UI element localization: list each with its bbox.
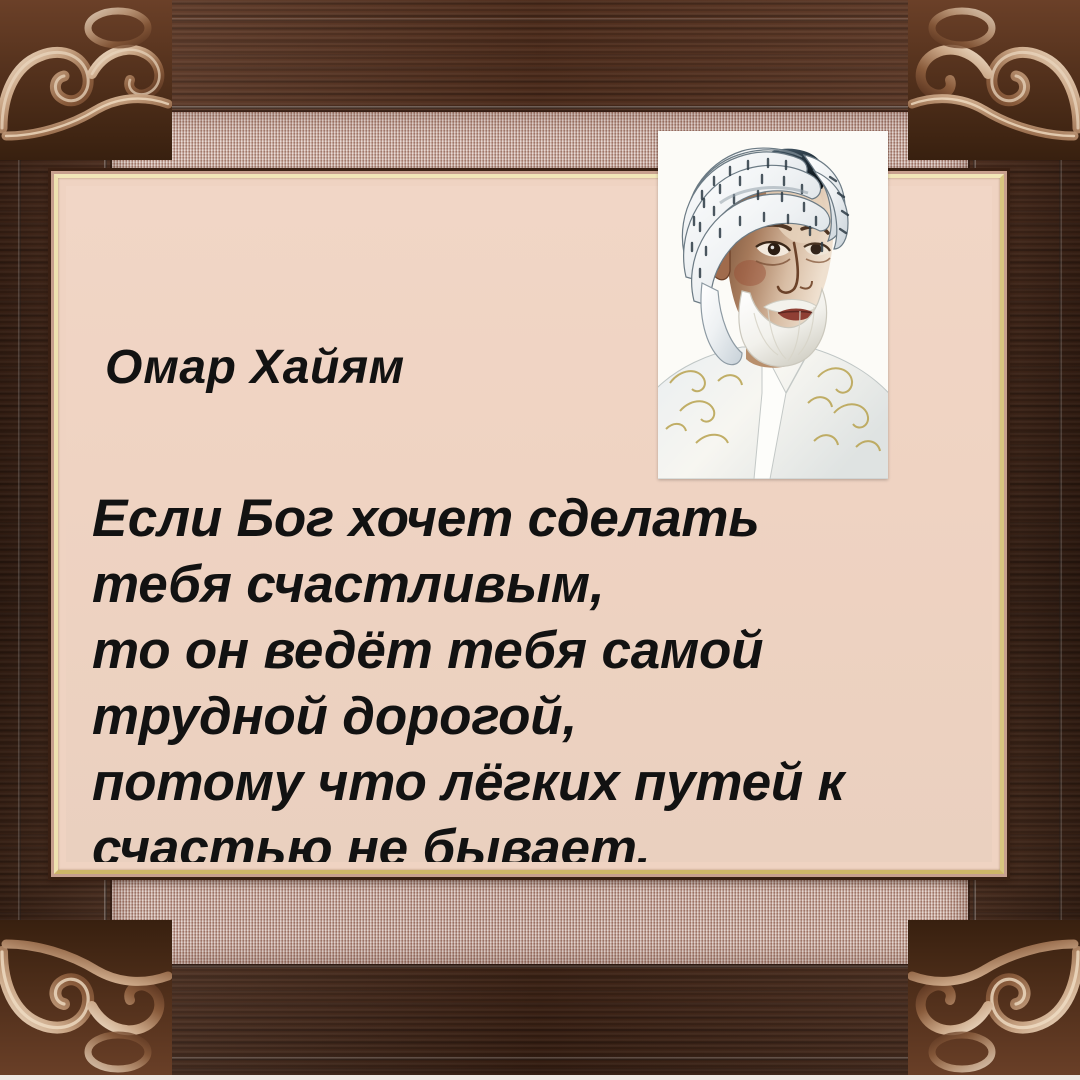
quote-line: счастью не бывает.: [92, 816, 984, 862]
quote-poster: Омар Хайям Если Бог хочет сделать тебя с…: [0, 0, 1080, 1080]
quote-line: Если Бог хочет сделать: [92, 486, 984, 552]
quote-line: трудной дорогой,: [92, 684, 984, 750]
quote-line: тебя счастливым,: [92, 552, 984, 618]
omar-khayyam-portrait-icon: [658, 131, 888, 479]
quote-text: Если Бог хочет сделать тебя счастливым, …: [92, 486, 984, 862]
author-name: Омар Хайям: [105, 344, 405, 392]
quote-line: потому что лёгких путей к: [92, 750, 984, 816]
bottom-white-strip: [0, 1075, 1080, 1080]
quote-line: то он ведёт тебя самой: [92, 618, 984, 684]
